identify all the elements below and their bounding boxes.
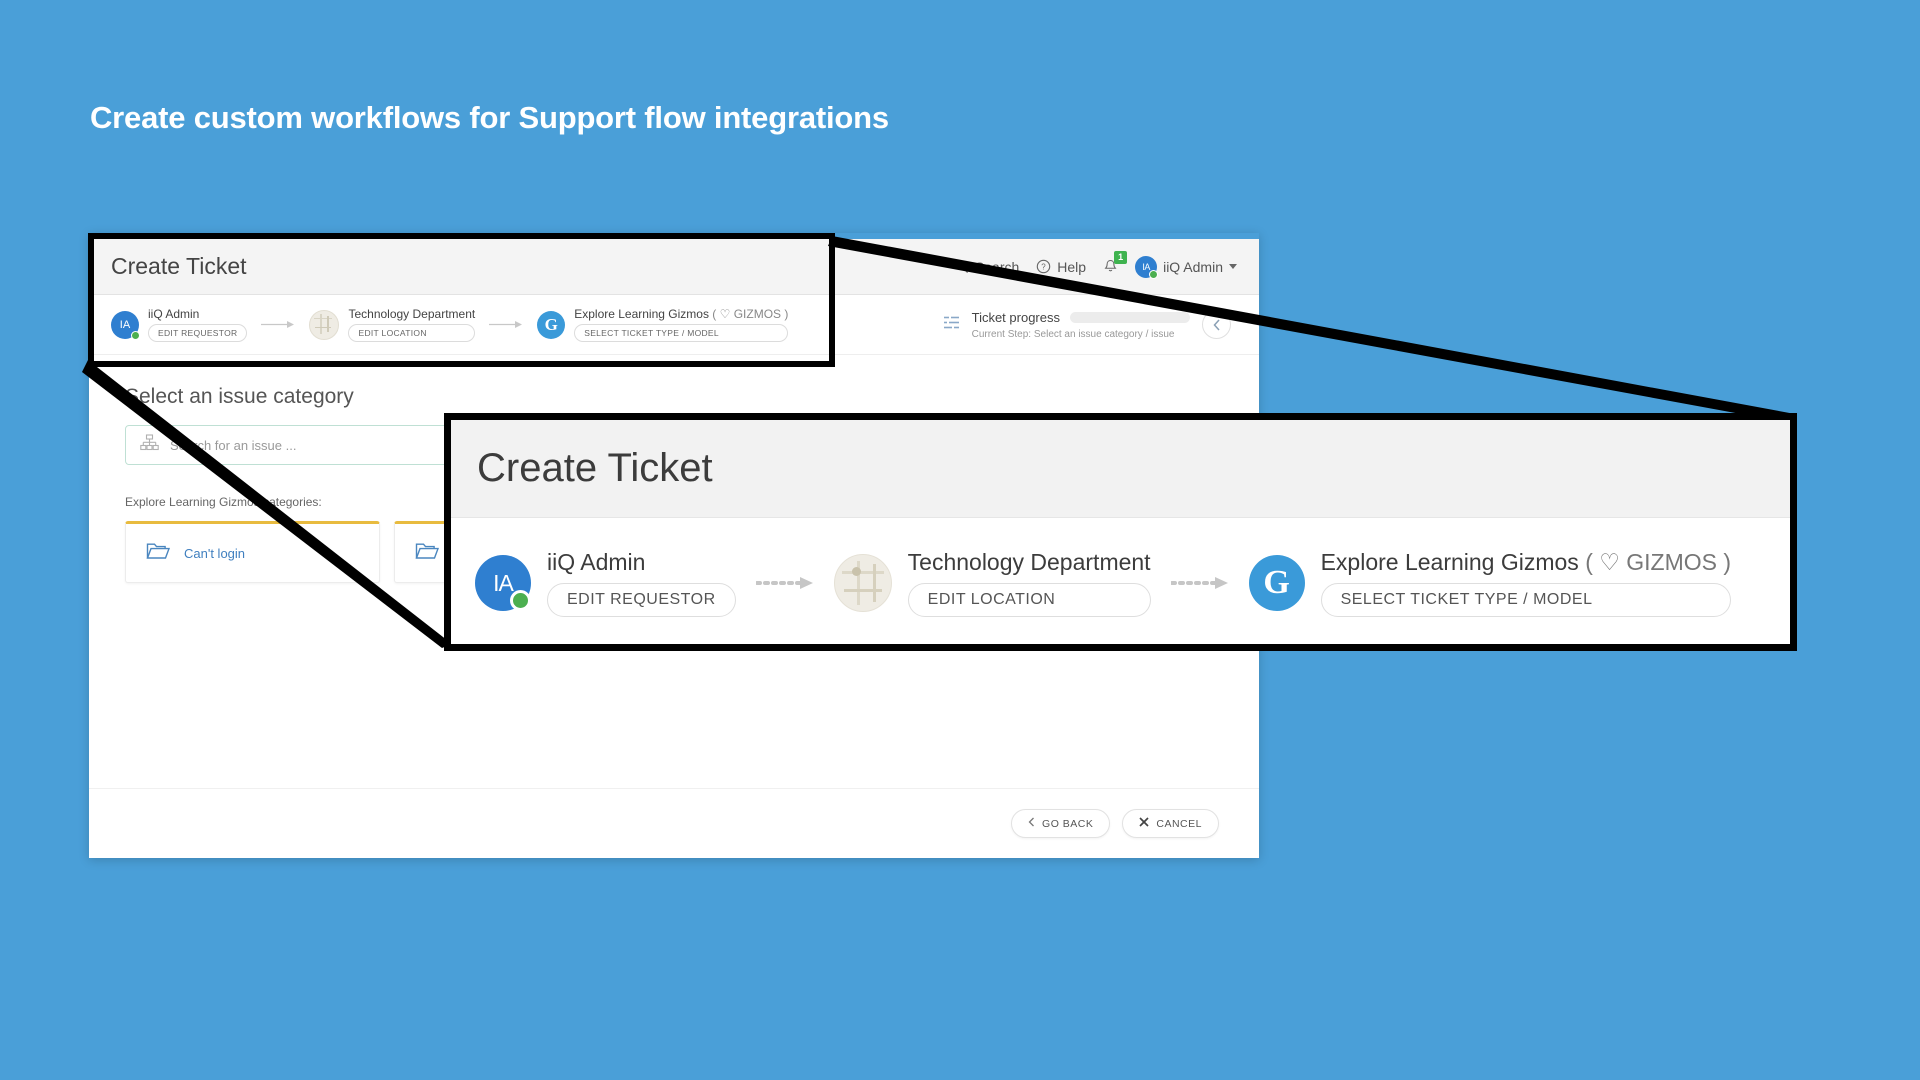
- callout-step-name: Technology Department: [908, 549, 1151, 576]
- help-label: Help: [1057, 259, 1086, 275]
- cancel-button[interactable]: CANCEL: [1122, 809, 1219, 838]
- gizmos-tag-label: ( ♡ GIZMOS ): [1585, 549, 1731, 575]
- source-highlight-box: [88, 233, 835, 367]
- user-name-label: iiQ Admin: [1163, 259, 1223, 275]
- callout-breadcrumb-bar: IA iiQ Admin EDIT REQUESTOR: [451, 518, 1790, 648]
- ticket-progress-label: Ticket progress: [972, 310, 1060, 325]
- gizmos-logo-letter: G: [1263, 564, 1289, 602]
- user-menu[interactable]: IA iiQ Admin: [1135, 256, 1237, 278]
- callout-header: Create Ticket: [451, 420, 1790, 518]
- select-ticket-type-button[interactable]: SELECT TICKET TYPE / MODEL: [1321, 583, 1731, 617]
- edit-requestor-button[interactable]: EDIT REQUESTOR: [547, 583, 736, 617]
- category-card-label: Can't login: [184, 546, 245, 561]
- search-icon: [954, 259, 969, 274]
- callout-step-location[interactable]: Technology Department EDIT LOCATION: [834, 549, 1151, 617]
- dotted-arrow-right-icon: [756, 575, 814, 591]
- list-progress-icon: [943, 315, 960, 335]
- cancel-label: CANCEL: [1156, 818, 1202, 830]
- callout-step-name: Explore Learning Gizmos ( ♡ GIZMOS ): [1321, 549, 1731, 576]
- app-footer: GO BACK CANCEL: [89, 788, 1259, 858]
- go-back-button[interactable]: GO BACK: [1011, 809, 1110, 838]
- current-step-label: Current Step: Select an issue category /…: [972, 329, 1175, 340]
- go-back-label: GO BACK: [1042, 818, 1093, 830]
- question-circle-icon: ?: [1036, 259, 1051, 274]
- avatar-initials: IA: [1142, 262, 1150, 272]
- location-avatar: [834, 554, 892, 612]
- callout-title: Create Ticket: [477, 446, 713, 491]
- category-card[interactable]: Can't login: [125, 521, 380, 583]
- chevron-left-icon: [1028, 817, 1035, 830]
- edit-location-button[interactable]: EDIT LOCATION: [908, 583, 1151, 617]
- map-thumbnail: [835, 555, 891, 611]
- search-button[interactable]: Search: [954, 259, 1019, 275]
- ticket-progress-bar: [1070, 312, 1190, 323]
- ticket-progress-panel: Ticket progress Current Step: Select an …: [943, 310, 1237, 340]
- search-label: Search: [975, 259, 1019, 275]
- sitemap-icon: [140, 434, 159, 456]
- avatar-initials: IA: [493, 570, 513, 597]
- notification-badge: 1: [1114, 251, 1127, 264]
- magnified-callout: Create Ticket IA iiQ Admin EDIT REQUESTO…: [444, 413, 1797, 651]
- callout-step-ticket-type[interactable]: G Explore Learning Gizmos ( ♡ GIZMOS ) S…: [1249, 549, 1731, 617]
- close-x-icon: [1139, 817, 1149, 830]
- section-title: Select an issue category: [125, 385, 1223, 409]
- callout-step-name: iiQ Admin: [547, 549, 736, 576]
- collapse-progress-button[interactable]: [1202, 310, 1231, 339]
- callout-step-name-text: Explore Learning Gizmos: [1321, 549, 1579, 575]
- chevron-down-icon: [1229, 264, 1237, 269]
- dotted-arrow-right-icon: [1171, 575, 1229, 591]
- folder-open-icon: [146, 541, 170, 566]
- online-status-dot: [1149, 270, 1158, 279]
- online-status-dot: [510, 590, 531, 611]
- avatar: IA: [1135, 256, 1157, 278]
- page-headline: Create custom workflows for Support flow…: [90, 100, 889, 136]
- callout-step-requestor[interactable]: IA iiQ Admin EDIT REQUESTOR: [475, 549, 736, 617]
- svg-text:?: ?: [1042, 263, 1047, 272]
- issue-search-placeholder: Search for an issue ...: [170, 438, 296, 453]
- header-actions: Search ? Help 1 IA iiQ Admin: [954, 256, 1237, 278]
- requestor-avatar: IA: [475, 555, 531, 611]
- notifications-button[interactable]: 1: [1103, 259, 1118, 275]
- folder-open-icon: [415, 541, 439, 566]
- help-button[interactable]: ? Help: [1036, 259, 1086, 275]
- gizmos-logo-icon: G: [1249, 555, 1305, 611]
